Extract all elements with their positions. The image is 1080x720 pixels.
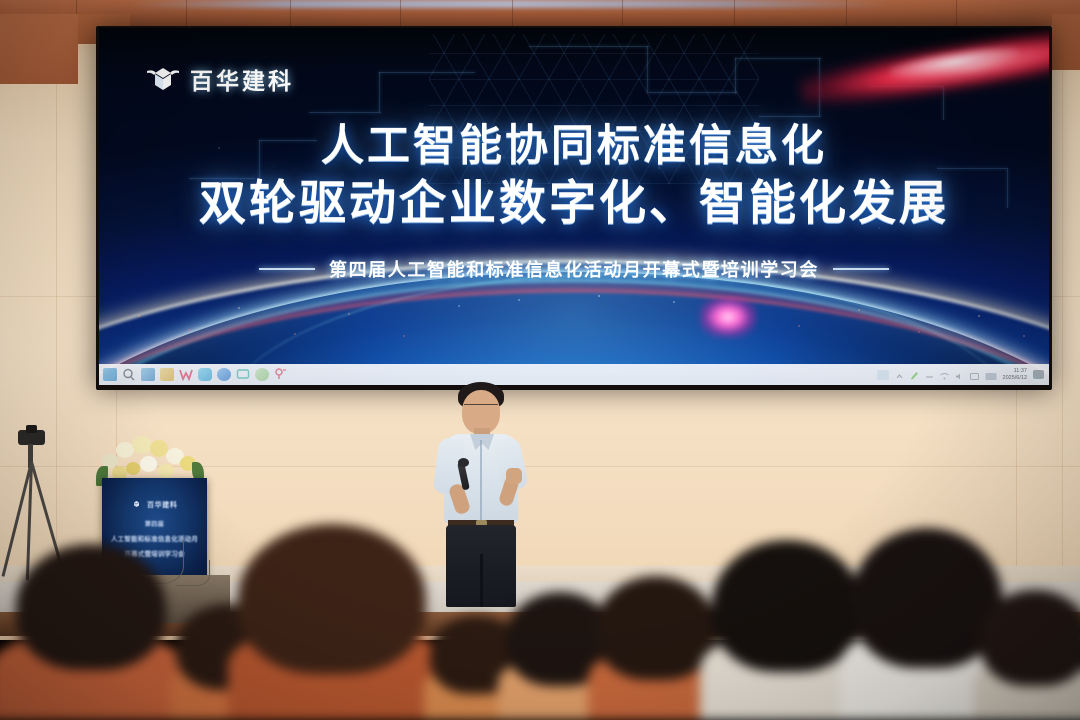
tray-network-icon[interactable]	[940, 368, 949, 381]
taskbar-system-tray[interactable]: 11:37 2025/6/12	[877, 368, 1049, 382]
wall-seam	[1062, 0, 1063, 640]
brand-name: 百华建科	[190, 62, 294, 96]
magenta-glow	[699, 296, 757, 338]
camera-lens	[26, 425, 37, 433]
bh-cube-logo-icon	[145, 64, 181, 94]
notification-icon[interactable]	[1033, 370, 1044, 379]
presenter-glasses	[464, 404, 498, 411]
search-icon[interactable]	[122, 368, 136, 381]
presenter-fist	[506, 468, 522, 484]
taskbar-clock[interactable]: 11:37 2025/6/12	[1003, 368, 1027, 382]
file-explorer-icon[interactable]	[160, 368, 174, 381]
podium-brand: 百华建科	[102, 494, 207, 512]
tray-monitor-icon[interactable]	[877, 370, 889, 380]
camera-body	[18, 430, 45, 445]
microphone-head	[458, 458, 469, 467]
wall-pillar-left	[0, 14, 78, 84]
slide-subtitle: 第四届人工智能和标准信息化活动月开幕式暨培训学习会	[99, 256, 1049, 282]
slide-title-line1: 人工智能协同标准信息化	[99, 122, 1049, 172]
tray-volume-icon[interactable]	[955, 368, 964, 381]
dingtalk-icon[interactable]	[217, 368, 231, 381]
taskbar-icon-group[interactable]	[99, 368, 288, 381]
subtitle-rule-right	[833, 268, 889, 270]
presenter-shirt-placket	[480, 440, 482, 520]
clock-date: 2025/6/12	[1003, 375, 1027, 381]
slide-title: 人工智能协同标准信息化 双轮驱动企业数字化、智能化发展	[99, 122, 1049, 230]
wps-office-icon[interactable]	[179, 368, 193, 381]
qq-icon[interactable]	[255, 368, 269, 381]
tray-input-icon[interactable]	[985, 368, 997, 381]
led-screen[interactable]: 百华建科 人工智能协同标准信息化 双轮驱动企业数字化、智能化发展 第四届人工智能…	[99, 28, 1049, 385]
podium-brand-name: 百华建科	[147, 502, 177, 509]
slide-subtitle-text: 第四届人工智能和标准信息化活动月开幕式暨培训学习会	[329, 256, 819, 282]
clock-time: 11:37	[1014, 368, 1027, 374]
tray-dash-icon[interactable]	[925, 368, 934, 381]
tray-pen-icon[interactable]	[910, 368, 919, 381]
qq-music-icon[interactable]	[274, 368, 288, 381]
task-view-icon[interactable]	[141, 368, 155, 381]
windows-taskbar[interactable]: 11:37 2025/6/12	[99, 364, 1049, 385]
wechat-icon[interactable]	[198, 368, 212, 381]
bh-cube-logo-icon-small	[132, 495, 141, 503]
tray-ime-icon[interactable]	[970, 368, 979, 381]
audience-foreground	[0, 545, 1080, 720]
podium-line-1: 第四届	[102, 519, 207, 528]
tray-chevron-up-icon[interactable]	[895, 368, 904, 381]
windows-start-icon[interactable]	[103, 368, 117, 381]
ceiling-light-strip	[130, 0, 890, 8]
conference-photo-scene: 百华建科 人工智能协同标准信息化 双轮驱动企业数字化、智能化发展 第四届人工智能…	[0, 0, 1080, 720]
wall-pillar-right	[1052, 14, 1080, 70]
slide-brand: 百华建科	[145, 62, 294, 96]
subtitle-rule-left	[259, 268, 315, 270]
slide-title-line2: 双轮驱动企业数字化、智能化发展	[99, 176, 1049, 231]
display-monitor-icon[interactable]	[236, 368, 250, 381]
